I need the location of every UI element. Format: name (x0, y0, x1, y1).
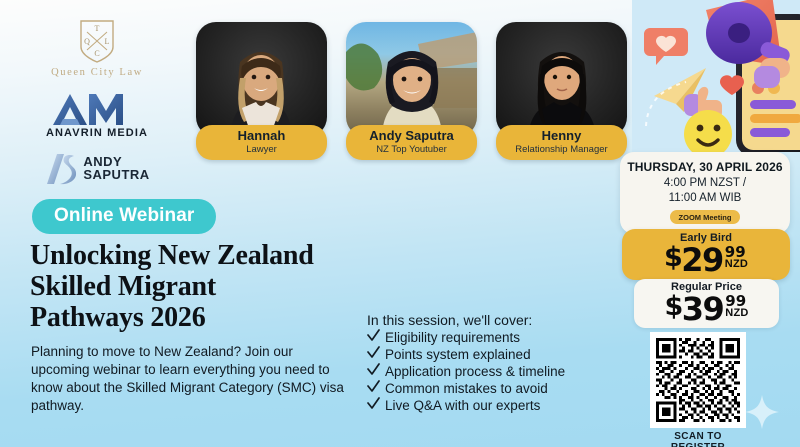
session-title: In this session, we'll cover: (367, 312, 622, 328)
partner-logos: T Q L C Queen City Law ANAVRIN MEDIA (22, 18, 172, 186)
early-bird-price-card: Early Bird $ 29 99 NZD (622, 229, 790, 280)
list-item: Live Q&A with our experts (367, 397, 622, 414)
registration-qr-block[interactable]: SCAN TO REGISTER (650, 332, 746, 447)
event-datetime-card: THURSDAY, 30 APRIL 2026 4:00 PM NZST / 1… (620, 152, 790, 234)
speaker-role: Lawyer (200, 144, 323, 155)
page-title: Unlocking New Zealand Skilled Migrant Pa… (30, 240, 380, 333)
headline-line-1: Unlocking New Zealand (30, 240, 380, 271)
session-coverage: In this session, we'll cover: Eligibilit… (367, 312, 622, 414)
intro-paragraph: Planning to move to New Zealand? Join ou… (31, 343, 353, 415)
list-item: Points system explained (367, 346, 622, 363)
sparkle-icon (745, 395, 779, 429)
speaker-name: Henny (500, 129, 623, 144)
queen-city-law-wordmark: Queen City Law (22, 67, 172, 78)
price-whole: 39 (682, 293, 724, 325)
event-time-nzst: 4:00 PM NZST / (626, 176, 784, 191)
list-item: Application process & timeline (367, 363, 622, 380)
currency-symbol: $ (664, 244, 681, 271)
list-item-label: Application process & timeline (385, 363, 565, 380)
poster-canvas: T Q L C Queen City Law ANAVRIN MEDIA (0, 0, 800, 447)
list-item-label: Eligibility requirements (385, 329, 520, 346)
queen-city-law-logo: T Q L C Queen City Law (22, 18, 172, 78)
regular-price-amount: $ 39 99 NZD (634, 293, 779, 325)
svg-text:L: L (105, 37, 110, 46)
currency-code: NZD (725, 259, 748, 270)
check-icon (367, 380, 380, 393)
speaker-card: Henny Relationship Manager (496, 22, 627, 160)
speaker-photo-andy (346, 22, 477, 137)
speaker-card: Hannah Lawyer (196, 22, 327, 160)
qr-code-icon[interactable] (650, 332, 746, 428)
event-time: 4:00 PM NZST / 11:00 AM WIB (626, 176, 784, 205)
svg-text:Q: Q (84, 37, 90, 46)
shield-crest-icon: T Q L C (77, 18, 117, 64)
list-item-label: Live Q&A with our experts (385, 397, 540, 414)
as-monogram-icon (44, 152, 78, 186)
speaker-name: Andy Saputra (350, 129, 473, 144)
currency-symbol: $ (664, 293, 681, 320)
anavrin-media-wordmark: ANAVRIN MEDIA (22, 127, 172, 139)
list-item: Common mistakes to avoid (367, 380, 622, 397)
list-item-label: Points system explained (385, 346, 531, 363)
event-date: THURSDAY, 30 APRIL 2026 (626, 160, 784, 174)
speaker-photo-hannah (196, 22, 327, 137)
speaker-photo-henny (496, 22, 627, 137)
headline-line-3: Pathways 2026 (30, 302, 380, 333)
social-media-illustration (632, 0, 800, 152)
currency-code: NZD (725, 308, 748, 319)
headline-line-2: Skilled Migrant (30, 271, 380, 302)
zoom-meeting-badge: ZOOM Meeting (670, 210, 741, 224)
svg-text:T: T (95, 24, 100, 33)
speaker-name-pill: Henny Relationship Manager (496, 125, 627, 160)
andy-saputra-logo: ANDY SAPUTRA (22, 152, 172, 186)
speaker-name: Hannah (200, 129, 323, 144)
check-icon (367, 346, 380, 359)
price-whole: 29 (681, 244, 723, 276)
anavrin-media-logo: ANAVRIN MEDIA (22, 92, 172, 139)
speaker-list: Hannah Lawyer (196, 22, 627, 160)
event-time-wib: 11:00 AM WIB (626, 191, 784, 206)
check-icon (367, 397, 380, 410)
am-monogram-icon (51, 92, 143, 126)
speaker-name-pill: Hannah Lawyer (196, 125, 327, 160)
check-icon (367, 329, 380, 342)
speaker-card: Andy Saputra NZ Top Youtuber (346, 22, 477, 160)
qr-caption: SCAN TO REGISTER (650, 431, 746, 447)
regular-price-card: Regular Price $ 39 99 NZD (634, 279, 779, 328)
early-bird-amount: $ 29 99 NZD (622, 244, 790, 276)
price-cents: 99 (725, 294, 746, 308)
online-webinar-badge: Online Webinar (32, 199, 216, 234)
list-item: Eligibility requirements (367, 329, 622, 346)
speaker-name-pill: Andy Saputra NZ Top Youtuber (346, 125, 477, 160)
speaker-role: Relationship Manager (500, 144, 623, 155)
svg-text:C: C (94, 49, 99, 58)
andy-saputra-wordmark: ANDY SAPUTRA (83, 156, 149, 181)
speaker-role: NZ Top Youtuber (350, 144, 473, 155)
price-cents: 99 (725, 245, 746, 259)
check-icon (367, 363, 380, 376)
andy-saputra-line2: SAPUTRA (83, 169, 149, 182)
list-item-label: Common mistakes to avoid (385, 380, 548, 397)
